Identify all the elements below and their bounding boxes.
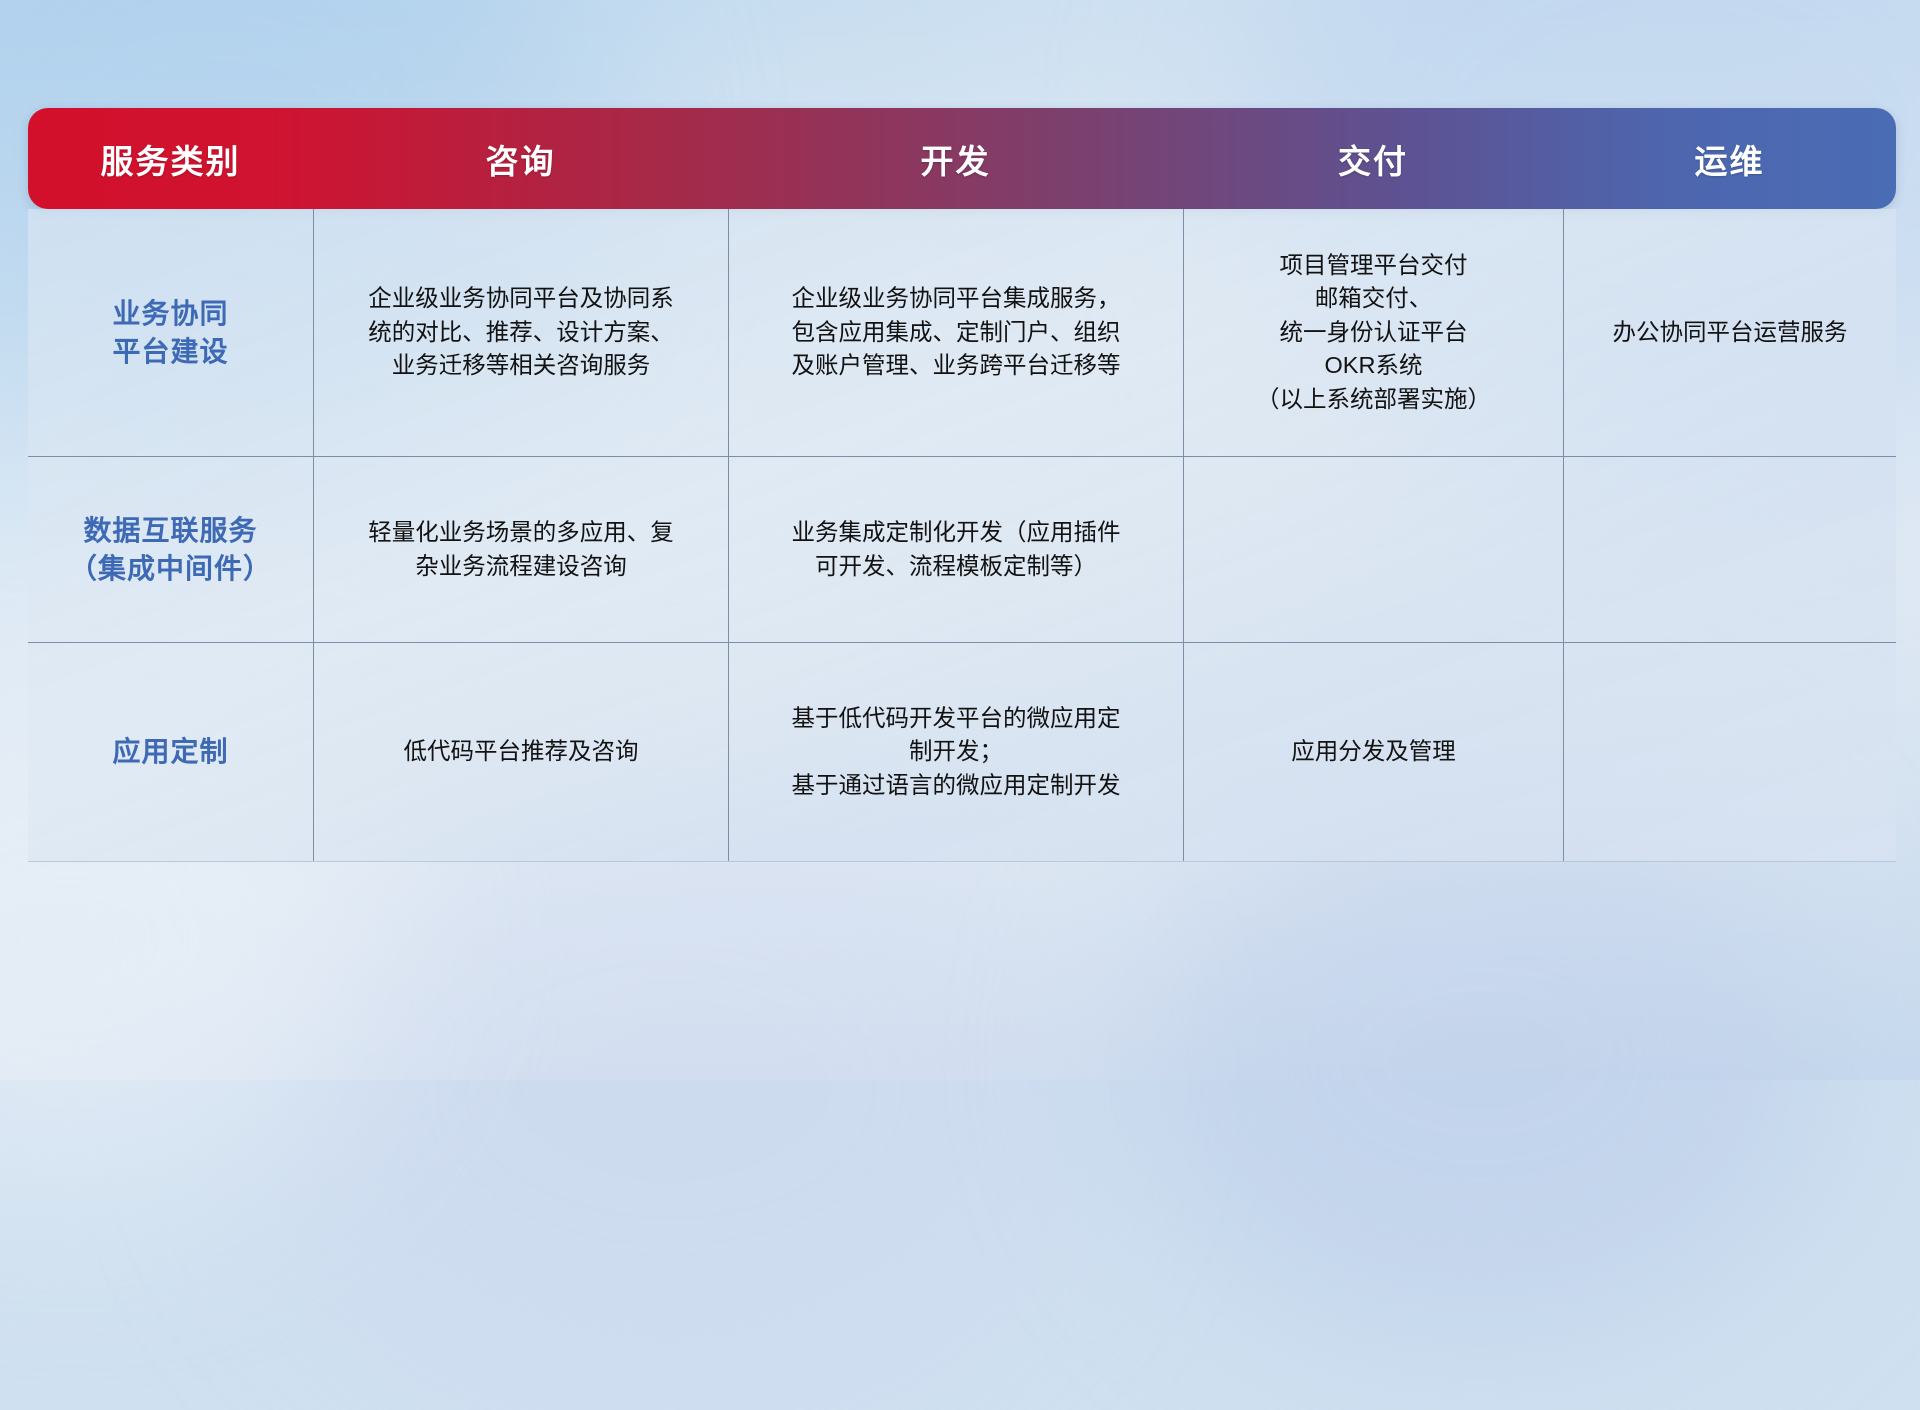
cell-consulting: 企业级业务协同平台及协同系 统的对比、推荐、设计方案、 业务迁移等相关咨询服务 bbox=[313, 209, 728, 456]
table-row: 业务协同 平台建设 企业级业务协同平台及协同系 统的对比、推荐、设计方案、 业务… bbox=[28, 209, 1896, 456]
cell-development: 业务集成定制化开发（应用插件 可开发、流程模板定制等） bbox=[728, 457, 1183, 642]
cell-delivery: 应用分发及管理 bbox=[1183, 643, 1563, 861]
service-matrix-table: 服务类别 咨询 开发 交付 运维 业务协同 平台建设 企业级业务协同平台及协同系… bbox=[28, 108, 1896, 862]
cell-delivery bbox=[1183, 457, 1563, 642]
table-row: 数据互联服务 （集成中间件） 轻量化业务场景的多应用、复 杂业务流程建设咨询 业… bbox=[28, 456, 1896, 642]
cell-operations bbox=[1563, 643, 1896, 861]
cell-development: 企业级业务协同平台集成服务， 包含应用集成、定制门户、组织 及账户管理、业务跨平… bbox=[728, 209, 1183, 456]
cell-development: 基于低代码开发平台的微应用定 制开发； 基于通过语言的微应用定制开发 bbox=[728, 643, 1183, 861]
column-header-operations: 运维 bbox=[1563, 108, 1896, 209]
table-body: 业务协同 平台建设 企业级业务协同平台及协同系 统的对比、推荐、设计方案、 业务… bbox=[28, 209, 1896, 862]
table-header-row: 服务类别 咨询 开发 交付 运维 bbox=[28, 108, 1896, 209]
cell-delivery: 项目管理平台交付 邮箱交付、 统一身份认证平台 OKR系统 （以上系统部署实施） bbox=[1183, 209, 1563, 456]
cell-consulting: 低代码平台推荐及咨询 bbox=[313, 643, 728, 861]
cell-operations: 办公协同平台运营服务 bbox=[1563, 209, 1896, 456]
column-header-consulting: 咨询 bbox=[313, 108, 728, 209]
row-category-label: 数据互联服务 （集成中间件） bbox=[28, 457, 313, 642]
table-row: 应用定制 低代码平台推荐及咨询 基于低代码开发平台的微应用定 制开发； 基于通过… bbox=[28, 642, 1896, 861]
row-category-label: 业务协同 平台建设 bbox=[28, 209, 313, 456]
cell-operations bbox=[1563, 457, 1896, 642]
column-header-service-category: 服务类别 bbox=[28, 108, 313, 209]
row-category-label: 应用定制 bbox=[28, 643, 313, 861]
column-header-development: 开发 bbox=[728, 108, 1183, 209]
column-header-delivery: 交付 bbox=[1183, 108, 1563, 209]
cell-consulting: 轻量化业务场景的多应用、复 杂业务流程建设咨询 bbox=[313, 457, 728, 642]
